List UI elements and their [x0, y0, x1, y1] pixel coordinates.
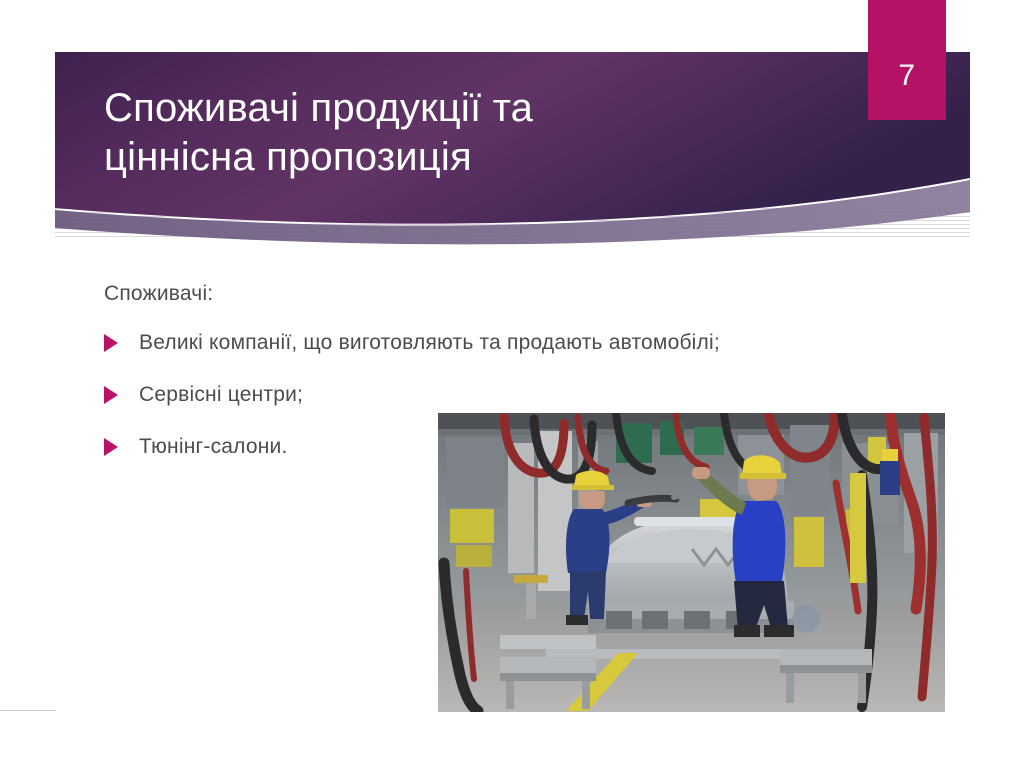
bottom-divider: [0, 710, 56, 711]
worker-distant: [880, 449, 900, 495]
factory-assembly-line-photo: [438, 413, 945, 712]
list-item-label: Сервісні центри;: [139, 380, 303, 410]
list-item-label: Великі компанії, що виготовляють та прод…: [139, 328, 720, 358]
list-item: Сервісні центри;: [104, 380, 784, 410]
list-item: Великі компанії, що виготовляють та прод…: [104, 328, 784, 358]
triangle-bullet-icon: [104, 334, 118, 352]
presentation-slide: 7 Споживачі продукції та ціннісна пропоз…: [0, 0, 1024, 767]
list-item-label: Тюнінг-салони.: [139, 432, 287, 462]
triangle-bullet-icon: [104, 438, 118, 456]
page-title: Споживачі продукції та ціннісна пропозиц…: [104, 84, 824, 182]
slide-number-badge: 7: [868, 0, 946, 120]
triangle-bullet-icon: [104, 386, 118, 404]
slide-number-value: 7: [898, 29, 915, 91]
intro-label: Споживачі:: [104, 282, 784, 306]
